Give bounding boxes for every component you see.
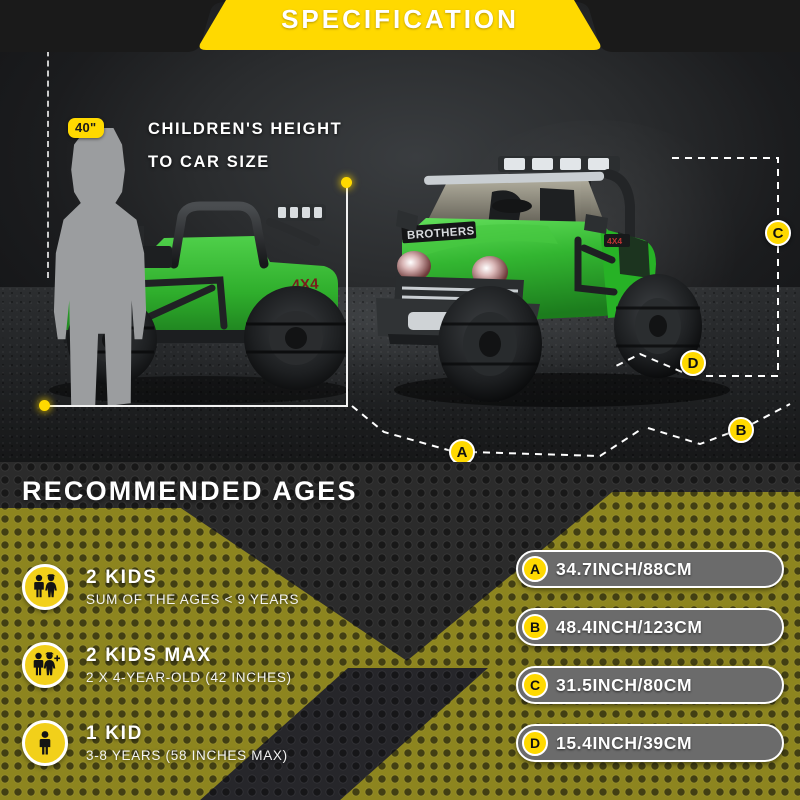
dim-line-b-right — [752, 404, 790, 424]
age-subtext: 2 X 4-YEAR-OLD (42 INCHES) — [86, 670, 292, 685]
pill-letter-b: B — [522, 614, 548, 640]
dim-line-a-left — [352, 406, 455, 452]
dimension-callout-lines — [0, 0, 800, 462]
dim-line-d-left — [612, 354, 682, 372]
age-row-2-kids: 2 KIDS SUM OF THE AGES < 9 YEARS — [22, 548, 462, 626]
pill-letter-a: A — [522, 556, 548, 582]
page-title: SPECIFICATION — [0, 4, 800, 35]
measurement-pill-c: C 31.5INCH/80CM — [516, 666, 784, 704]
specification-infographic: 4X4 — [0, 0, 800, 800]
age-heading: 1 KID — [86, 723, 288, 745]
age-row-text: 2 KIDS SUM OF THE AGES < 9 YEARS — [86, 567, 299, 607]
recommended-ages-panel: RECOMMENDED AGES 2 KIDS — [0, 462, 800, 800]
age-row-text: 2 KIDS MAX 2 X 4-YEAR-OLD (42 INCHES) — [86, 645, 292, 685]
pill-value-b: 48.4INCH/123CM — [556, 617, 703, 638]
dim-line-b-left — [648, 428, 732, 444]
measurement-pill-list: A 34.7INCH/88CM B 48.4INCH/123CM C 31.5I… — [516, 550, 784, 782]
age-heading: 2 KIDS — [86, 567, 299, 589]
dimension-badge-c: C — [765, 220, 791, 246]
dim-line-a-right — [470, 430, 640, 456]
pill-value-c: 31.5INCH/80CM — [556, 675, 692, 696]
measurement-pill-a: A 34.7INCH/88CM — [516, 550, 784, 588]
two-kids-icon — [22, 564, 68, 610]
dimension-badge-b: B — [728, 417, 754, 443]
pill-value-a: 34.7INCH/88CM — [556, 559, 692, 580]
dim-line-c-bottom — [706, 246, 778, 376]
dim-line-c-top — [672, 158, 778, 222]
measure-dot-top — [341, 177, 352, 188]
two-kids-max-icon — [22, 642, 68, 688]
section-title: RECOMMENDED AGES — [22, 476, 358, 507]
height-badge: 40" — [68, 118, 104, 138]
age-row-text: 1 KID 3-8 YEARS (58 INCHES MAX) — [86, 723, 288, 763]
measurement-pill-d: D 15.4INCH/39CM — [516, 724, 784, 762]
age-row-1-kid: 1 KID 3-8 YEARS (58 INCHES MAX) — [22, 704, 462, 782]
age-subtext: 3-8 YEARS (58 INCHES MAX) — [86, 748, 288, 763]
pill-letter-d: D — [522, 730, 548, 756]
pill-letter-c: C — [522, 672, 548, 698]
measure-dot-left — [39, 400, 50, 411]
age-rows-list: 2 KIDS SUM OF THE AGES < 9 YEARS — [22, 548, 462, 782]
age-heading: 2 KIDS MAX — [86, 645, 292, 667]
dimension-badge-d: D — [680, 350, 706, 376]
one-kid-icon — [22, 720, 68, 766]
age-row-2-kids-max: 2 KIDS MAX 2 X 4-YEAR-OLD (42 INCHES) — [22, 626, 462, 704]
age-subtext: SUM OF THE AGES < 9 YEARS — [86, 592, 299, 607]
hero-panel: 4X4 — [0, 0, 800, 462]
measurement-pill-b: B 48.4INCH/123CM — [516, 608, 784, 646]
dimension-badge-a: A — [449, 439, 475, 462]
pill-value-d: 15.4INCH/39CM — [556, 733, 692, 754]
